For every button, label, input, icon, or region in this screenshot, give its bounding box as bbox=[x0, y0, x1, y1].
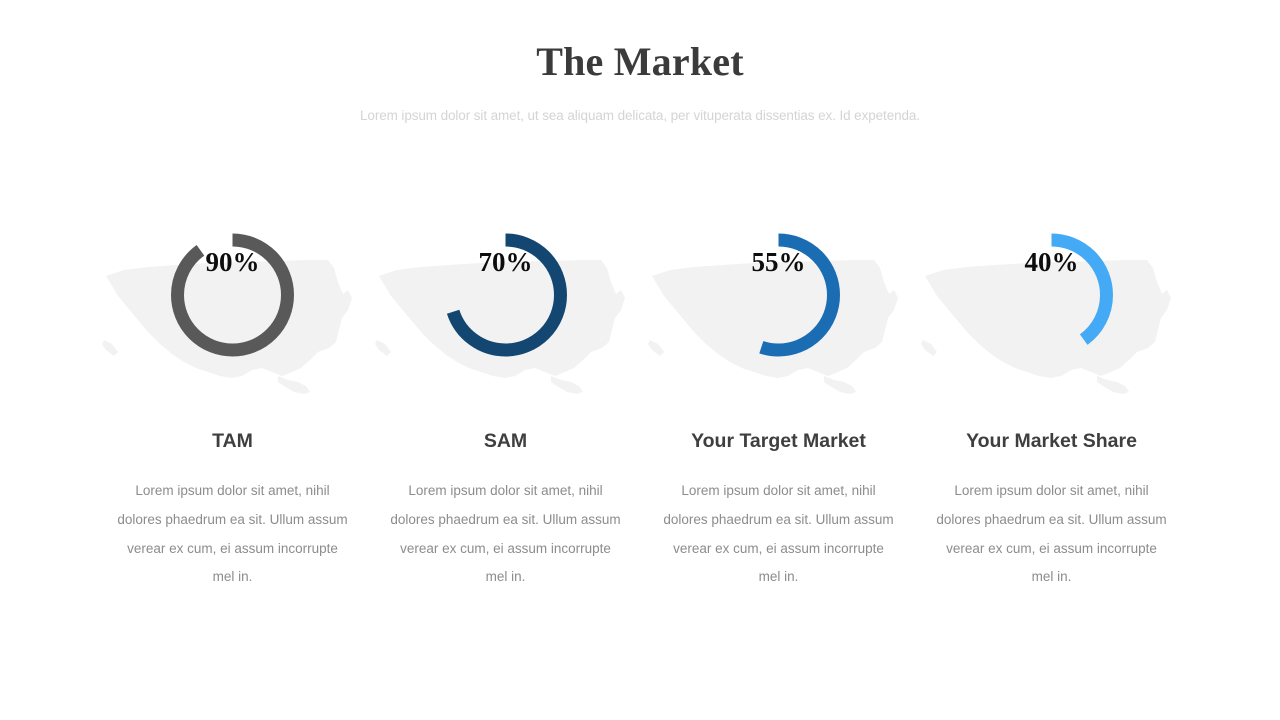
donut-chart-icon bbox=[369, 190, 642, 430]
column-body-tam: Lorem ipsum dolor sit amet, nihil dolore… bbox=[115, 453, 350, 591]
column-heading-market-share: Your Market Share bbox=[966, 430, 1137, 453]
page-subtitle: Lorem ipsum dolor sit amet, ut sea aliqu… bbox=[0, 84, 1280, 124]
column-body-target-market: Lorem ipsum dolor sit amet, nihil dolore… bbox=[661, 453, 896, 591]
slide-header: The Market Lorem ipsum dolor sit amet, u… bbox=[0, 40, 1280, 124]
market-column-sam[interactable]: 70% SAM Lorem ipsum dolor sit amet, nihi… bbox=[369, 190, 642, 592]
donut-chart-sam: 70% bbox=[369, 190, 642, 430]
column-heading-target-market: Your Target Market bbox=[691, 430, 866, 453]
column-heading-sam: SAM bbox=[484, 430, 527, 453]
market-columns: 90% TAM Lorem ipsum dolor sit amet, nihi… bbox=[96, 190, 1188, 592]
donut-chart-icon bbox=[96, 190, 369, 430]
column-heading-tam: TAM bbox=[212, 430, 253, 453]
market-column-target-market[interactable]: 55% Your Target Market Lorem ipsum dolor… bbox=[642, 190, 915, 592]
slide-root: The Market Lorem ipsum dolor sit amet, u… bbox=[0, 0, 1280, 720]
donut-chart-target-market: 55% bbox=[642, 190, 915, 430]
market-column-tam[interactable]: 90% TAM Lorem ipsum dolor sit amet, nihi… bbox=[96, 190, 369, 592]
donut-chart-tam: 90% bbox=[96, 190, 369, 430]
column-body-sam: Lorem ipsum dolor sit amet, nihil dolore… bbox=[388, 453, 623, 591]
donut-chart-market-share: 40% bbox=[915, 190, 1188, 430]
donut-chart-icon bbox=[642, 190, 915, 430]
market-column-market-share[interactable]: 40% Your Market Share Lorem ipsum dolor … bbox=[915, 190, 1188, 592]
page-title: The Market bbox=[0, 40, 1280, 84]
column-body-market-share: Lorem ipsum dolor sit amet, nihil dolore… bbox=[934, 453, 1169, 591]
donut-chart-icon bbox=[915, 190, 1188, 430]
